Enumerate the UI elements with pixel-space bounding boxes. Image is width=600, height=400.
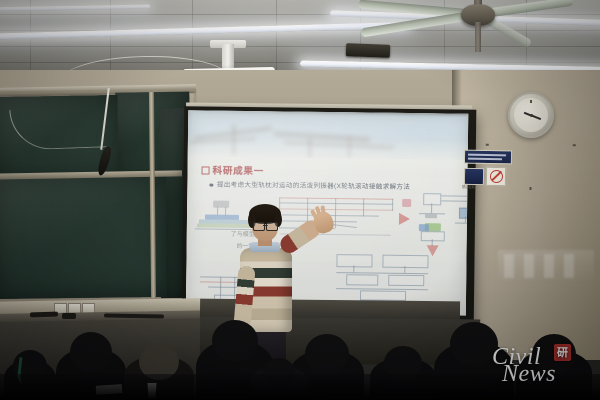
blackboard-panel — [0, 175, 167, 299]
slide-title-text: 科研成果一 — [212, 166, 264, 178]
wall-light-patch — [498, 250, 594, 284]
projector-mount-pole — [222, 44, 234, 70]
audience — [0, 318, 600, 400]
sign-caption: 禁止吸烟 — [462, 184, 475, 189]
bullet-dot-icon — [209, 183, 213, 187]
slide-bullet-text: 提出考虑大型轨枕对运动的活泼列振器(X轮轨滚动接触求解方法 — [217, 182, 410, 191]
lecture-photo-scene: 科研成果一 提出考虑大型轨枕对运动的活泼列振器(X轮轨滚动接触求解方法 — [0, 0, 600, 400]
analog-wall-clock — [508, 92, 554, 138]
desk-item — [30, 312, 58, 318]
slide-bullet-line: 提出考虑大型轨枕对运动的活泼列振器(X轮轨滚动接触求解方法 — [209, 179, 410, 191]
diagram-highlight — [402, 199, 411, 207]
presenter-glasses — [253, 222, 278, 229]
no-smoking-sign — [486, 167, 506, 186]
slide-title: 科研成果一 — [201, 162, 264, 177]
slide-header-photo — [188, 110, 469, 159]
slide-title-marker — [202, 167, 210, 175]
notice-sign — [464, 150, 512, 165]
ceiling-fixture — [346, 43, 390, 58]
flow-arrow-icon — [399, 213, 410, 225]
diagram-right — [419, 193, 469, 248]
secondary-sign — [464, 168, 484, 185]
diagram-lower-center — [336, 254, 429, 299]
